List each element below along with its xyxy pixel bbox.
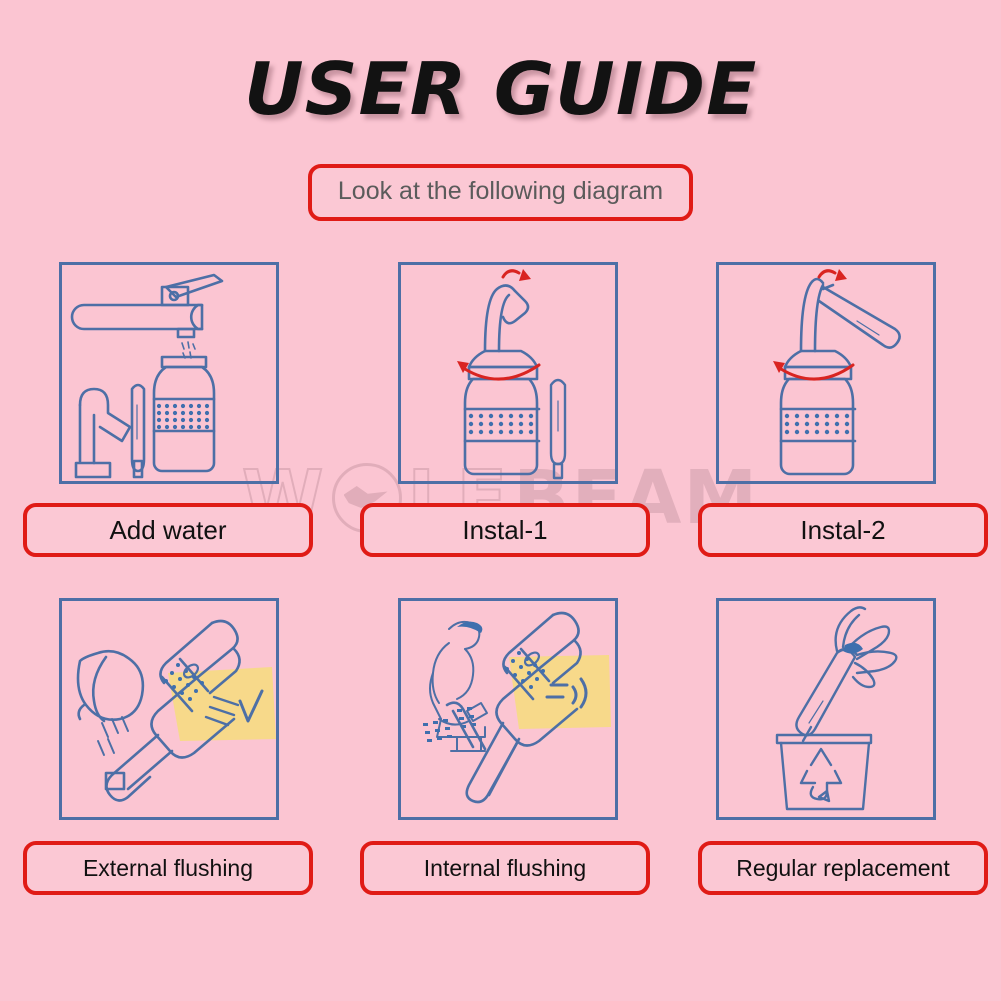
step-card-add-water: Add water [17,262,337,557]
steps-grid: Add water [0,262,1001,934]
step-card-internal-flushing: Internal flushing [356,598,676,895]
page-title-container: USER GUIDE [0,52,1001,128]
step-label-instal-2: Instal-2 [698,503,988,557]
step-card-instal-2: Instal-2 [678,262,998,557]
step-label-external-flushing: External flushing [23,841,313,895]
subtitle-container: Look at the following diagram [0,164,1001,221]
step-label-add-water: Add water [23,503,313,557]
steps-row-2: External flushing [0,598,1001,934]
step-label-regular-replacement: Regular replacement [698,841,988,895]
illustration-faucet-filling-bottle [59,262,279,484]
illustration-bottle-long-nozzle-rotate [716,262,936,484]
step-card-instal-1: Instal-1 [356,262,676,557]
step-label-instal-1: Instal-1 [360,503,650,557]
steps-row-1: Add water [0,262,1001,598]
step-label-internal-flushing: Internal flushing [360,841,650,895]
subtitle-box: Look at the following diagram [308,164,693,221]
illustration-external-flushing [59,598,279,820]
illustration-bottle-short-nozzle-rotate [398,262,618,484]
illustration-internal-flushing [398,598,618,820]
illustration-replace-nozzle-recycle [716,598,936,820]
page-title: USER GUIDE [244,52,757,128]
step-card-regular-replacement: Regular replacement [678,598,998,895]
step-card-external-flushing: External flushing [17,598,337,895]
